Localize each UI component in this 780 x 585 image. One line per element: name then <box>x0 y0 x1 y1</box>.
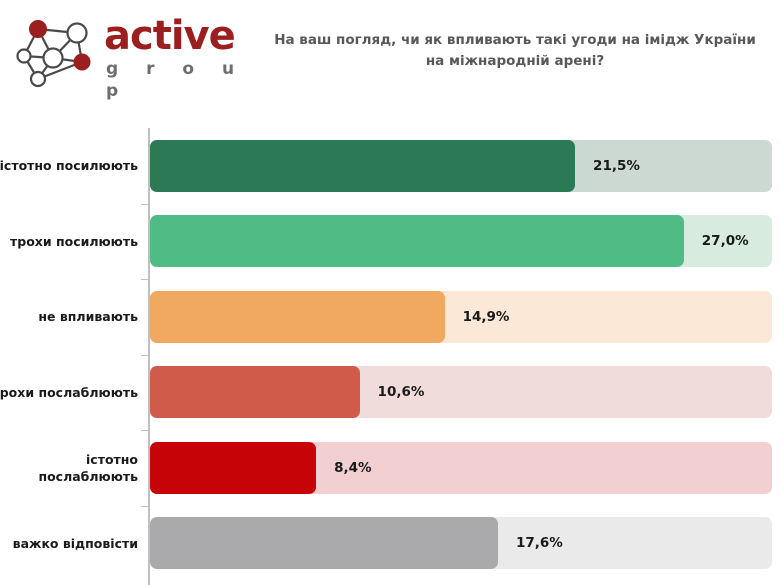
bar-value-label: 10,6% <box>378 384 425 400</box>
bar-track <box>150 291 772 343</box>
chart-title: На ваш погляд, чи як впливають такі угод… <box>265 30 765 72</box>
category-label: трохи послаблюють <box>0 384 138 401</box>
bar-row: важко відповісти17,6% <box>0 517 780 569</box>
category-label: не впливають <box>0 308 138 325</box>
brand-name-secondary: g r o u p <box>104 58 254 102</box>
category-label: істотнопослаблюють <box>0 451 138 485</box>
axis-tick <box>141 279 148 280</box>
bar-fill[interactable] <box>150 140 575 192</box>
category-label: важко відповісти <box>0 535 138 552</box>
network-graph-icon <box>12 12 98 92</box>
bar-fill[interactable] <box>150 215 684 267</box>
category-label: істотно посилюють <box>0 157 138 174</box>
bar-value-label: 17,6% <box>516 535 563 551</box>
bar-track <box>150 366 772 418</box>
axis-tick <box>141 204 148 205</box>
bar-chart: істотно посилюють21,5%трохи посилюють27,… <box>0 110 780 585</box>
bar-fill[interactable] <box>150 517 498 569</box>
brand-logo: active g r o u p <box>12 8 257 92</box>
bar-value-label: 8,4% <box>334 460 371 476</box>
bar-track <box>150 140 772 192</box>
bar-row: трохи посилюють27,0% <box>0 215 780 267</box>
axis-tick <box>141 506 148 507</box>
bar-value-label: 27,0% <box>702 233 749 249</box>
bar-value-label: 14,9% <box>463 309 510 325</box>
brand-name-primary: active <box>104 14 254 58</box>
bar-track <box>150 517 772 569</box>
bar-fill[interactable] <box>150 442 316 494</box>
bar-track <box>150 442 772 494</box>
bar-fill[interactable] <box>150 366 360 418</box>
page-header: active g r o u p На ваш погляд, чи як вп… <box>0 0 780 110</box>
axis-tick <box>141 355 148 356</box>
category-label: трохи посилюють <box>0 233 138 250</box>
bar-value-label: 21,5% <box>593 158 640 174</box>
bar-track <box>150 215 772 267</box>
bar-row: не впливають14,9% <box>0 291 780 343</box>
axis-tick <box>141 430 148 431</box>
bar-fill[interactable] <box>150 291 445 343</box>
bar-row: істотно посилюють21,5% <box>0 140 780 192</box>
bar-row: трохи послаблюють10,6% <box>0 366 780 418</box>
brand-wordmark: active g r o u p <box>104 14 254 102</box>
bar-row: істотнопослаблюють8,4% <box>0 442 780 494</box>
